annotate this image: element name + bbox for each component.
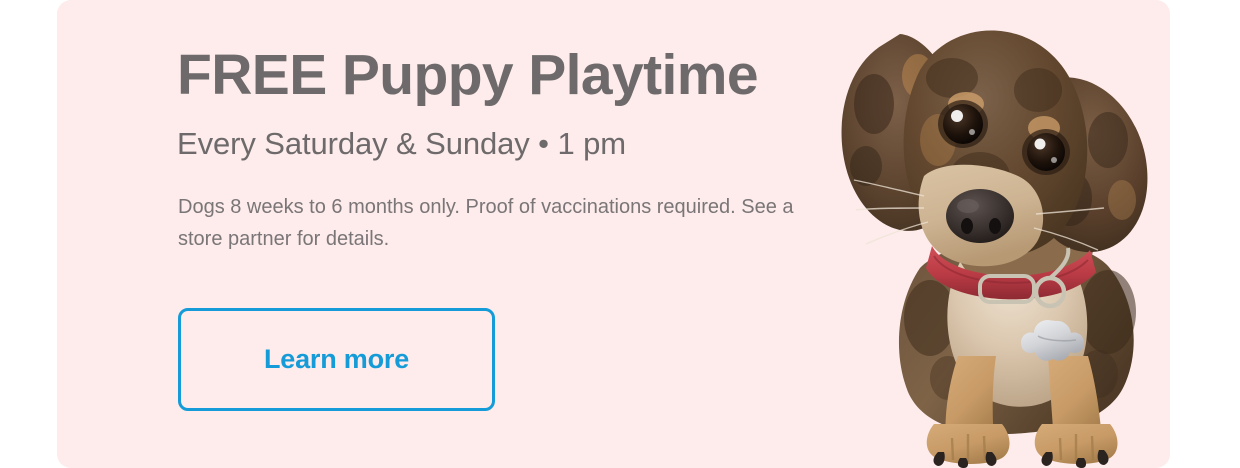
banner-subheadline: Every Saturday & Sunday • 1 pm	[177, 125, 626, 163]
promo-banner: FREE Puppy Playtime Every Saturday & Sun…	[0, 0, 1240, 468]
page-title: FREE Puppy Playtime	[177, 44, 758, 106]
banner-copy-block: FREE Puppy Playtime Every Saturday & Sun…	[177, 0, 857, 468]
puppy-eye-right	[1022, 129, 1070, 175]
puppy-eye-left	[938, 100, 988, 148]
banner-panel: FREE Puppy Playtime Every Saturday & Sun…	[57, 0, 1170, 468]
puppy-illustration	[812, 0, 1170, 468]
puppy-photo	[812, 0, 1170, 468]
puppy-nose	[946, 189, 1014, 243]
banner-body-text: Dogs 8 weeks to 6 months only. Proof of …	[178, 191, 808, 255]
learn-more-button[interactable]: Learn more	[178, 308, 495, 411]
